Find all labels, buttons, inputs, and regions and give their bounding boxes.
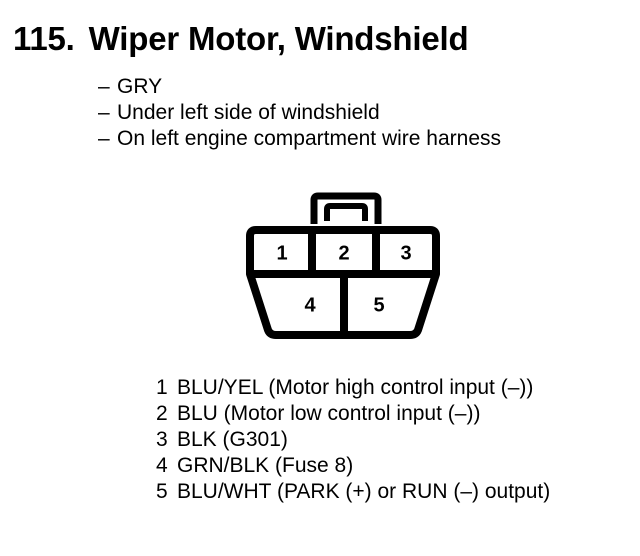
pin-legend-row: 4 GRN/BLK (Fuse 8) — [156, 453, 616, 479]
description-item-label: GRY — [117, 75, 162, 98]
dash-bullet-icon: – — [98, 126, 110, 152]
page-title-number: 115. — [13, 20, 75, 57]
pin-legend-number: 3 — [156, 427, 168, 453]
cavity-number-3: 3 — [400, 242, 411, 264]
connector-diagram: 1 2 3 4 5 — [240, 190, 445, 345]
dash-bullet-icon: – — [98, 74, 110, 100]
cavity-number-5: 5 — [373, 294, 384, 316]
connector-latch-icon — [314, 196, 378, 224]
description-item-location: – Under left side of windshield — [98, 100, 618, 126]
pin-legend-row: 3 BLK (G301) — [156, 427, 616, 453]
pin-legend-number: 1 — [156, 375, 168, 401]
pin-legend-number: 4 — [156, 453, 168, 479]
pin-legend-number: 2 — [156, 401, 168, 427]
pin-legend-description: BLK (G301) — [177, 428, 288, 451]
pin-legend-description: BLU/WHT (PARK (+) or RUN (–) output) — [177, 480, 550, 503]
dash-bullet-icon: – — [98, 100, 110, 126]
description-item-harness: – On left engine compartment wire harnes… — [98, 126, 618, 152]
description-item-label: Under left side of windshield — [117, 101, 380, 124]
description-item-label: On left engine compartment wire harness — [117, 127, 501, 150]
cavity-number-1: 1 — [276, 242, 287, 264]
page-title-text: Wiper Motor, Windshield — [89, 20, 469, 57]
cavity-number-4: 4 — [304, 294, 316, 316]
pin-legend-description: BLU/YEL (Motor high control input (–)) — [177, 376, 533, 399]
pin-legend-description: BLU (Motor low control input (–)) — [177, 402, 480, 425]
pin-legend-row: 2 BLU (Motor low control input (–)) — [156, 401, 616, 427]
pin-legend-description: GRN/BLK (Fuse 8) — [177, 454, 353, 477]
description-list: – GRY – Under left side of windshield – … — [98, 74, 618, 152]
pin-legend-row: 5 BLU/WHT (PARK (+) or RUN (–) output) — [156, 479, 616, 505]
cavity-number-2: 2 — [338, 242, 349, 264]
pin-legend-row: 1 BLU/YEL (Motor high control input (–)) — [156, 375, 616, 401]
description-item-color: – GRY — [98, 74, 618, 100]
pin-legend: 1 BLU/YEL (Motor high control input (–))… — [156, 375, 616, 505]
page-title: 115.Wiper Motor, Windshield — [13, 20, 468, 58]
pin-legend-number: 5 — [156, 479, 168, 505]
